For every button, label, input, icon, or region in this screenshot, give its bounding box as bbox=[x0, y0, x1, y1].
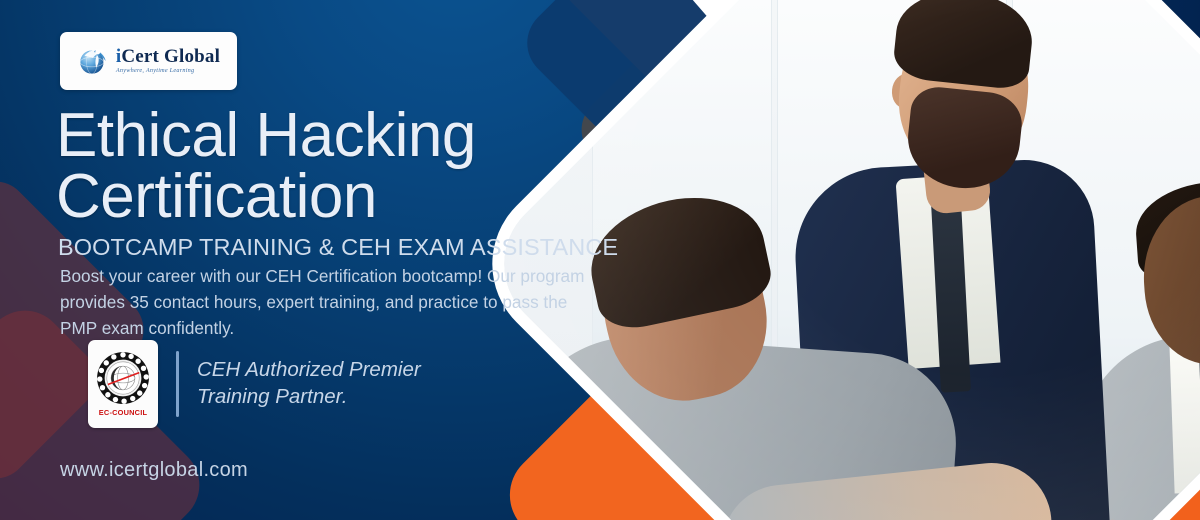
partner-statement: CEH Authorized Premier Training Partner. bbox=[197, 357, 421, 410]
page-title: Ethical Hacking Certification bbox=[56, 106, 636, 228]
brand-logo[interactable]: iCert Global Anywhere, Anytime Learning bbox=[60, 32, 237, 90]
partner-statement-line2: Training Partner. bbox=[197, 384, 421, 411]
brand-logo-tagline: Anywhere, Anytime Learning bbox=[116, 68, 220, 74]
globe-swoosh-icon bbox=[77, 44, 111, 78]
ec-council-seal-icon bbox=[96, 351, 150, 405]
content-column: iCert Global Anywhere, Anytime Learning … bbox=[0, 0, 640, 520]
vertical-divider bbox=[176, 351, 179, 417]
page-title-line2: Certification bbox=[56, 167, 636, 228]
page-title-line1: Ethical Hacking bbox=[56, 101, 476, 170]
website-url[interactable]: www.icertglobal.com bbox=[60, 459, 248, 482]
body-copy: Boost your career with our CEH Certifica… bbox=[60, 263, 605, 341]
accreditation-row: EC-COUNCIL CEH Authorized Premier Traini… bbox=[88, 340, 421, 428]
ec-council-badge: EC-COUNCIL bbox=[88, 340, 158, 428]
promotional-banner: iCert Global Anywhere, Anytime Learning … bbox=[0, 0, 1200, 520]
partner-statement-line1: CEH Authorized Premier bbox=[197, 357, 421, 384]
ec-council-badge-label: EC-COUNCIL bbox=[99, 408, 147, 417]
subheading: BOOTCAMP TRAINING & CEH EXAM ASSISTANCE bbox=[58, 234, 618, 261]
brand-logo-name: iCert Global bbox=[116, 47, 220, 66]
